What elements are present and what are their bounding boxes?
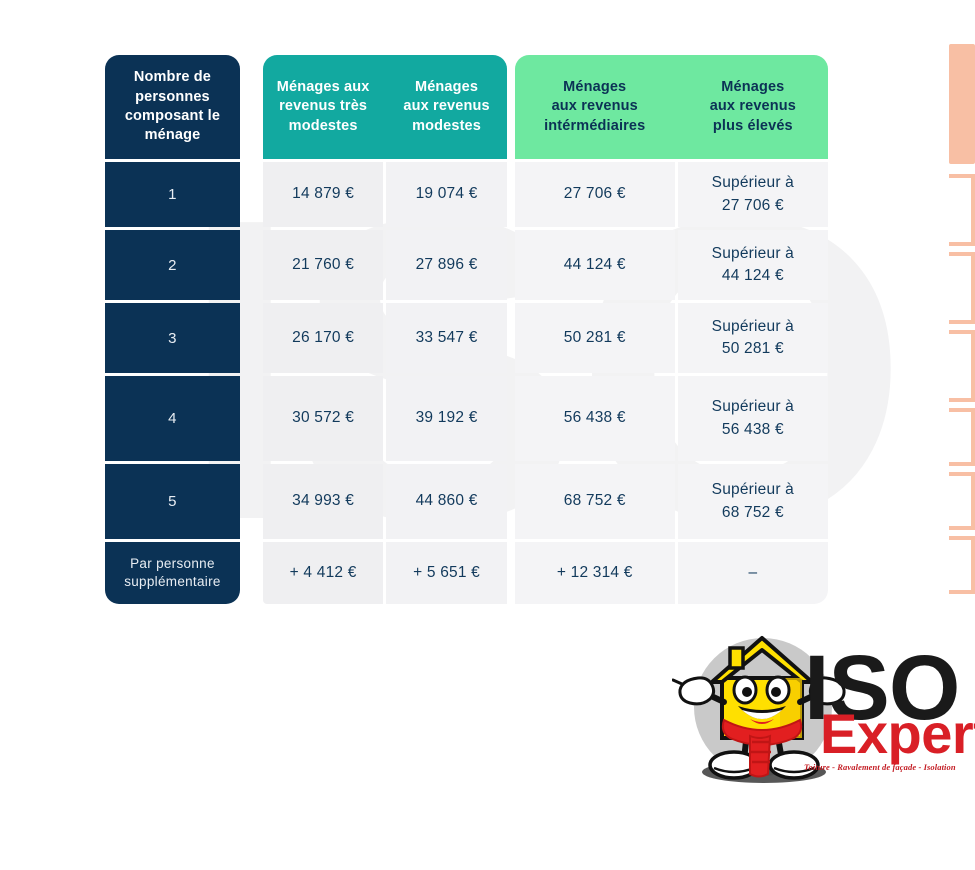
column-gap (507, 303, 515, 373)
cell-line: Supérieur à (712, 479, 794, 501)
cell-higher: Supérieur à 56 438 € (678, 376, 828, 461)
row-label: 4 (105, 376, 240, 461)
row-label-extra: Par personne supplémentaire (105, 542, 240, 604)
cell-intermediate: 44 124 € (515, 230, 675, 300)
header-cell-modest: Ménages aux revenus modestes (386, 55, 506, 159)
logo-secondary-text: Expert (820, 706, 975, 762)
cell-modest: + 5 651 € (386, 542, 506, 604)
cell-very-modest: + 4 412 € (263, 542, 383, 604)
cell-modest: 27 896 € (386, 230, 506, 300)
column-gap (240, 230, 263, 300)
cell-intermediate: 68 752 € (515, 464, 675, 539)
cell-very-modest: 34 993 € (263, 464, 383, 539)
header-line: aux revenus (544, 97, 645, 116)
table-row: 5 34 993 € 44 860 € 68 752 € Supérieur à… (105, 464, 828, 539)
header-line: intérmédiaires (544, 117, 645, 136)
table-row: 1 14 879 € 19 074 € 27 706 € Supérieur à… (105, 162, 828, 227)
header-cell-household-size: Nombre de personnes composant le ménage (105, 55, 240, 159)
table-header-row: Nombre de personnes composant le ménage … (105, 55, 828, 159)
header-line: plus élevés (710, 117, 796, 136)
header-line: personnes (125, 88, 220, 107)
income-threshold-table: Nombre de personnes composant le ménage … (105, 55, 828, 604)
cell-modest: 19 074 € (386, 162, 506, 227)
row-label: 5 (105, 464, 240, 539)
header-line: ménage (125, 126, 220, 145)
column-gap (240, 464, 263, 539)
row-label: 3 (105, 303, 240, 373)
cell-intermediate: + 12 314 € (515, 542, 675, 604)
column-gap (507, 55, 515, 159)
header-cell-very-modest: Ménages aux revenus très modestes (263, 55, 383, 159)
column-gap (240, 162, 263, 227)
row-label: 1 (105, 162, 240, 227)
cell-line: Supérieur à (712, 172, 794, 194)
cell-higher: Supérieur à 27 706 € (678, 162, 828, 227)
cell-intermediate: 50 281 € (515, 303, 675, 373)
header-line: revenus très (277, 97, 370, 116)
cell-higher: Supérieur à 50 281 € (678, 303, 828, 373)
column-gap (240, 376, 263, 461)
header-line: Ménages (544, 78, 645, 97)
cell-line: 68 752 € (712, 502, 794, 524)
cell-higher: Supérieur à 68 752 € (678, 464, 828, 539)
header-cell-higher: Ménages aux revenus plus élevés (678, 55, 828, 159)
table-row: 4 30 572 € 39 192 € 56 438 € Supérieur à… (105, 376, 828, 461)
cell-very-modest: 21 760 € (263, 230, 383, 300)
cell-line: 56 438 € (712, 419, 794, 441)
logo-tagline: Toiture - Ravalement de façade - Isolati… (804, 762, 956, 772)
table-row: 2 21 760 € 27 896 € 44 124 € Supérieur à… (105, 230, 828, 300)
cell-intermediate: 56 438 € (515, 376, 675, 461)
table-row: 3 26 170 € 33 547 € 50 281 € Supérieur à… (105, 303, 828, 373)
cell-intermediate: 27 706 € (515, 162, 675, 227)
column-gap (507, 464, 515, 539)
cell-line: 27 706 € (712, 195, 794, 217)
header-line: modestes (403, 117, 489, 136)
table-row-extra: Par personne supplémentaire + 4 412 € + … (105, 542, 828, 604)
header-line: composant le (125, 107, 220, 126)
cell-line: 44 124 € (712, 265, 794, 287)
cell-higher: – (678, 542, 828, 604)
header-cell-intermediate: Ménages aux revenus intérmédiaires (515, 55, 675, 159)
cell-very-modest: 26 170 € (263, 303, 383, 373)
edge-decoration (949, 44, 975, 564)
cell-line: Supérieur à (712, 243, 794, 265)
header-line: Ménages (710, 78, 796, 97)
cell-line: Supérieur à (712, 316, 794, 338)
cell-modest: 39 192 € (386, 376, 506, 461)
column-gap (507, 162, 515, 227)
header-line: aux revenus (403, 97, 489, 116)
column-gap (240, 55, 263, 159)
cell-modest: 33 547 € (386, 303, 506, 373)
column-gap (507, 230, 515, 300)
header-line: aux revenus (710, 97, 796, 116)
cell-modest: 44 860 € (386, 464, 506, 539)
header-line: Ménages (403, 78, 489, 97)
column-gap (240, 542, 263, 604)
header-line: Nombre de (125, 68, 220, 87)
iso-expert-logo: ISO Expert Toiture - Ravalement de façad… (672, 620, 967, 795)
cell-line: supplémentaire (124, 573, 221, 591)
row-label: 2 (105, 230, 240, 300)
header-line: Ménages aux (277, 78, 370, 97)
cell-very-modest: 30 572 € (263, 376, 383, 461)
cell-line: Par personne (124, 555, 221, 573)
cell-very-modest: 14 879 € (263, 162, 383, 227)
cell-line: 50 281 € (712, 338, 794, 360)
column-gap (507, 542, 515, 604)
cell-line: Supérieur à (712, 396, 794, 418)
column-gap (507, 376, 515, 461)
column-gap (240, 303, 263, 373)
header-line: modestes (277, 117, 370, 136)
cell-higher: Supérieur à 44 124 € (678, 230, 828, 300)
screenshot-root: ISO Nombre de personnes composant le mén… (0, 0, 975, 870)
